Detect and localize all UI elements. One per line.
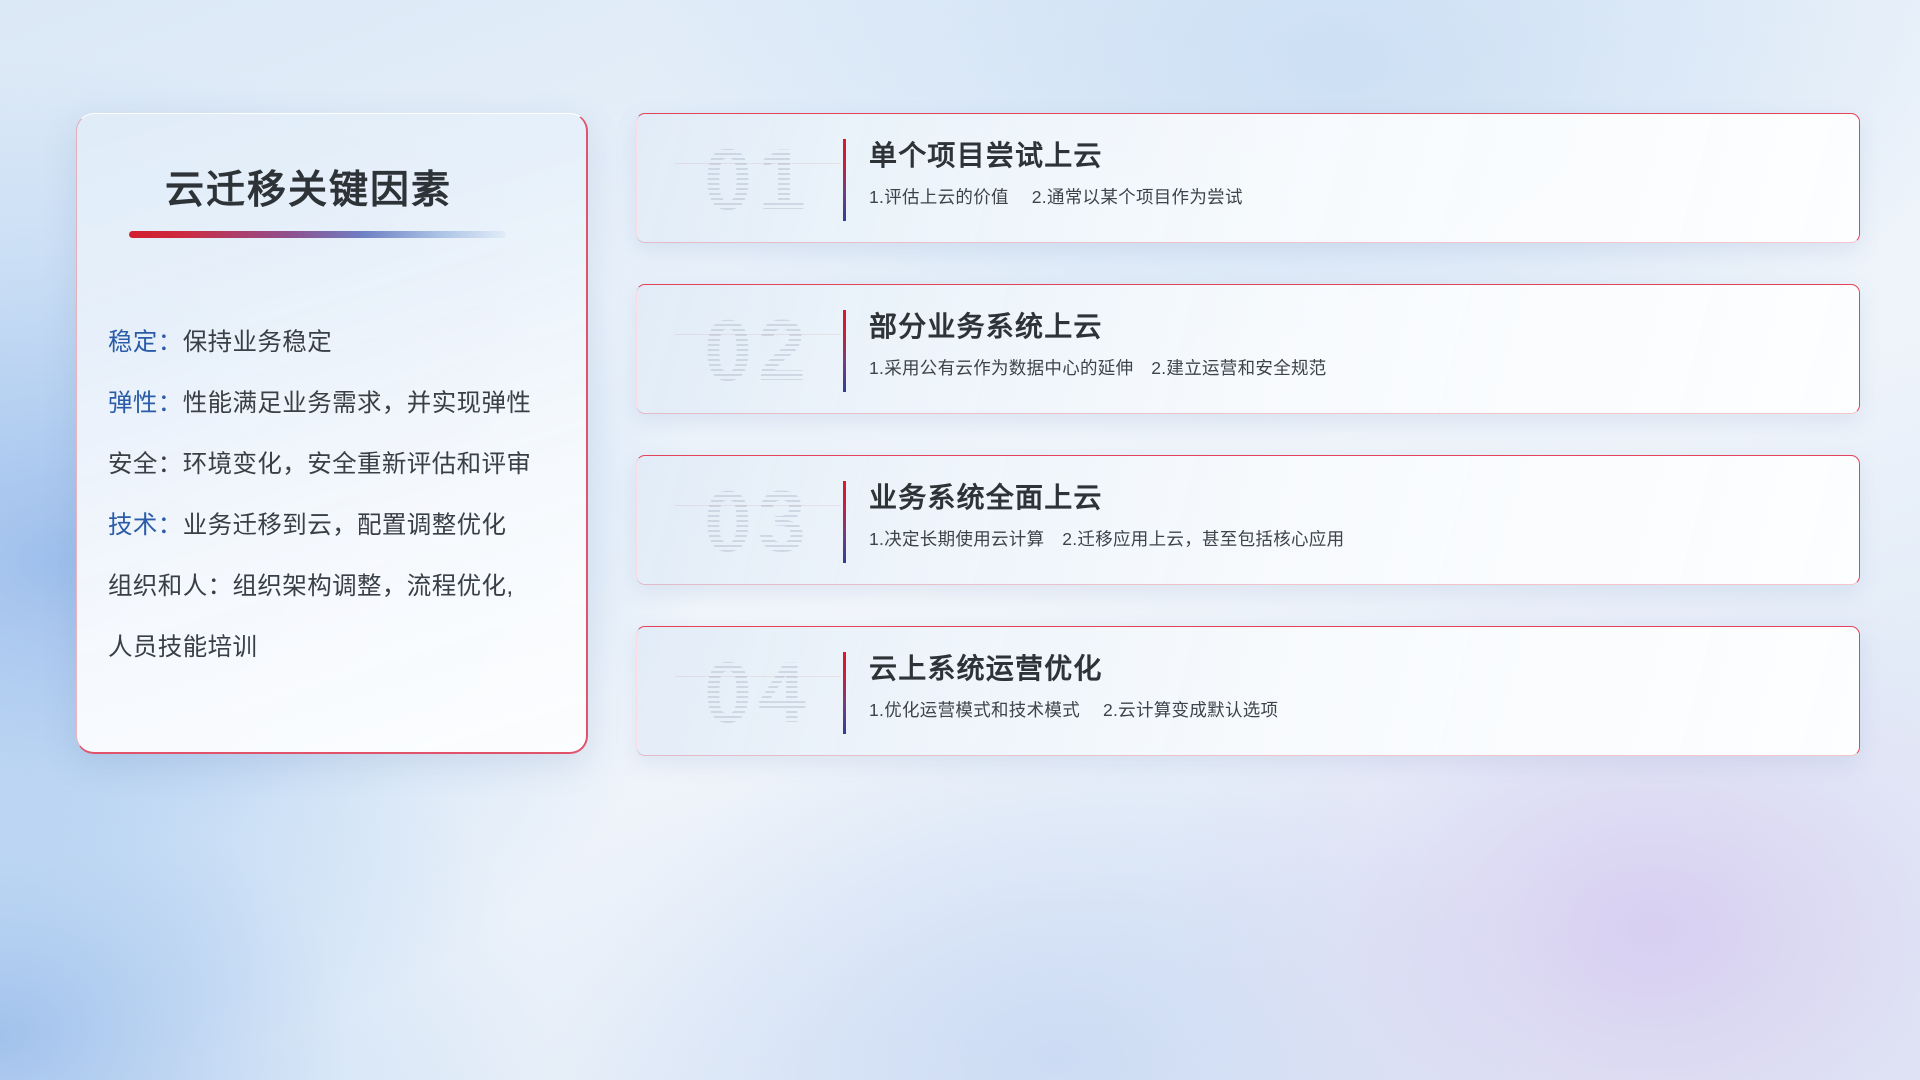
- stage-number: 03: [665, 470, 851, 574]
- stage-text-block: 部分业务系统上云1.采用公有云作为数据中心的延伸 2.建立运营和安全规范: [869, 305, 1843, 381]
- stage-divider-bar: [843, 139, 846, 221]
- stage-card[interactable]: 01单个项目尝试上云1.评估上云的价值 2.通常以某个项目作为尝试: [636, 113, 1860, 243]
- factor-text: 业务迁移到云，配置调整优化: [183, 512, 507, 539]
- stage-card[interactable]: 04云上系统运营优化1.优化运营模式和技术模式 2.云计算变成默认选项: [636, 626, 1860, 756]
- factor-line: 安全：环境变化，安全重新评估和评审: [108, 434, 570, 495]
- stage-title: 云上系统运营优化: [869, 647, 1843, 691]
- stage-divider-bar: [843, 310, 846, 392]
- key-factors-panel: 云迁移关键因素 稳定：保持业务稳定弹性：性能满足业务需求，并实现弹性安全：环境变…: [76, 113, 588, 754]
- stage-title: 单个项目尝试上云: [869, 134, 1843, 178]
- stage-card-list: 01单个项目尝试上云1.评估上云的价值 2.通常以某个项目作为尝试02部分业务系…: [636, 113, 1860, 797]
- stage-description: 1.优化运营模式和技术模式 2.云计算变成默认选项: [869, 697, 1843, 723]
- stage-card-inner: 01单个项目尝试上云1.评估上云的价值 2.通常以某个项目作为尝试: [637, 114, 1859, 242]
- factor-label: 组织和人：: [108, 573, 233, 600]
- stage-card[interactable]: 02部分业务系统上云1.采用公有云作为数据中心的延伸 2.建立运营和安全规范: [636, 284, 1860, 414]
- stage-card[interactable]: 03业务系统全面上云1.决定长期使用云计算 2.迁移应用上云，甚至包括核心应用: [636, 455, 1860, 585]
- factor-line: 稳定：保持业务稳定: [108, 312, 570, 373]
- factor-label: 弹性：: [108, 390, 183, 417]
- factor-label: 稳定：: [108, 329, 183, 356]
- factor-line: 人员技能培训: [108, 617, 570, 678]
- stage-divider-bar: [843, 652, 846, 734]
- stage-description: 1.评估上云的价值 2.通常以某个项目作为尝试: [869, 184, 1843, 210]
- factor-label: 技术：: [108, 512, 183, 539]
- factor-text: 保持业务稳定: [183, 329, 332, 356]
- factor-line: 弹性：性能满足业务需求，并实现弹性: [108, 373, 570, 434]
- stage-text-block: 业务系统全面上云1.决定长期使用云计算 2.迁移应用上云，甚至包括核心应用: [869, 476, 1843, 552]
- stage-text-block: 云上系统运营优化1.优化运营模式和技术模式 2.云计算变成默认选项: [869, 647, 1843, 723]
- title-underline-rule: [129, 231, 506, 238]
- stage-card-inner: 04云上系统运营优化1.优化运营模式和技术模式 2.云计算变成默认选项: [637, 627, 1859, 755]
- stage-card-inner: 02部分业务系统上云1.采用公有云作为数据中心的延伸 2.建立运营和安全规范: [637, 285, 1859, 413]
- factor-text: 环境变化，安全重新评估和评审: [183, 451, 532, 478]
- stage-number: 01: [665, 128, 851, 232]
- stage-number: 04: [665, 641, 851, 745]
- stage-description: 1.决定长期使用云计算 2.迁移应用上云，甚至包括核心应用: [869, 526, 1843, 552]
- stage-card-inner: 03业务系统全面上云1.决定长期使用云计算 2.迁移应用上云，甚至包括核心应用: [637, 456, 1859, 584]
- factor-line: 技术：业务迁移到云，配置调整优化: [108, 495, 570, 556]
- stage-number: 02: [665, 299, 851, 403]
- slide-canvas: 云迁移关键因素 稳定：保持业务稳定弹性：性能满足业务需求，并实现弹性安全：环境变…: [0, 0, 1920, 1080]
- stage-title: 业务系统全面上云: [869, 476, 1843, 520]
- stage-text-block: 单个项目尝试上云1.评估上云的价值 2.通常以某个项目作为尝试: [869, 134, 1843, 210]
- factor-text: 人员技能培训: [108, 634, 257, 661]
- page-title: 云迁移关键因素: [165, 159, 452, 215]
- factor-text: 性能满足业务需求，并实现弹性: [183, 390, 532, 417]
- factor-line: 组织和人：组织架构调整，流程优化,: [108, 556, 570, 617]
- factor-label: 安全：: [108, 451, 183, 478]
- stage-description: 1.采用公有云作为数据中心的延伸 2.建立运营和安全规范: [869, 355, 1843, 381]
- factor-text: 组织架构调整，流程优化,: [233, 573, 514, 600]
- stage-divider-bar: [843, 481, 846, 563]
- factor-list: 稳定：保持业务稳定弹性：性能满足业务需求，并实现弹性安全：环境变化，安全重新评估…: [108, 312, 570, 678]
- stage-title: 部分业务系统上云: [869, 305, 1843, 349]
